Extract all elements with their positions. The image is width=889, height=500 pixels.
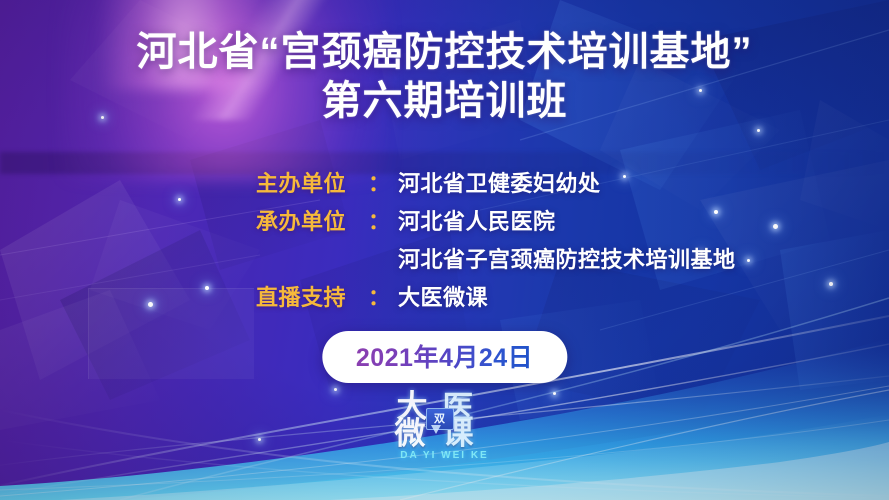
- info-label: 承办单位: [256, 204, 368, 236]
- title-line-2: 第六期培训班: [0, 77, 889, 126]
- title-line-1: 河北省“宫颈癌防控技术培训基地”: [0, 28, 889, 77]
- info-label: 直播支持: [256, 280, 368, 312]
- info-value: 河北省子宫颈癌防控技术培训基地: [398, 242, 736, 274]
- info-value: 大医微课: [398, 280, 488, 312]
- poster-canvas: 河北省“宫颈癌防控技术培训基地” 第六期培训班 主办单位 ： 河北省卫健委妇幼处…: [0, 0, 889, 500]
- info-row-host-second: 承办单位 ： 河北省子宫颈癌防控技术培训基地: [256, 242, 816, 280]
- logo-characters: 大 医 微 课 双: [395, 391, 495, 447]
- organizer-info-block: 主办单位 ： 河北省卫健委妇幼处 承办单位 ： 河北省人民医院 承办单位 ： 河…: [256, 166, 816, 318]
- info-colon: ：: [368, 204, 390, 236]
- date-badge: 2021年4月24日: [322, 331, 567, 383]
- info-value: 河北省卫健委妇幼处: [398, 166, 601, 198]
- date-text: 2021年4月24日: [356, 344, 533, 372]
- logo-char-wei: 微: [395, 418, 426, 449]
- info-colon: ：: [368, 280, 390, 312]
- dayiweike-logo: 大 医 微 课 双 DA YI WEI KE: [387, 391, 503, 467]
- poster-title: 河北省“宫颈癌防控技术培训基地” 第六期培训班: [0, 28, 889, 126]
- info-row-host: 承办单位 ： 河北省人民医院: [256, 204, 816, 242]
- info-label: 主办单位: [256, 166, 368, 198]
- logo-subtitle: DA YI WEI KE: [387, 450, 503, 461]
- info-row-organizer: 主办单位 ： 河北省卫健委妇幼处: [256, 166, 816, 204]
- logo-pin-icon: [431, 425, 441, 434]
- info-row-broadcast-support: 直播支持 ： 大医微课: [256, 280, 816, 318]
- info-colon: ：: [368, 166, 390, 198]
- info-value: 河北省人民医院: [398, 204, 556, 236]
